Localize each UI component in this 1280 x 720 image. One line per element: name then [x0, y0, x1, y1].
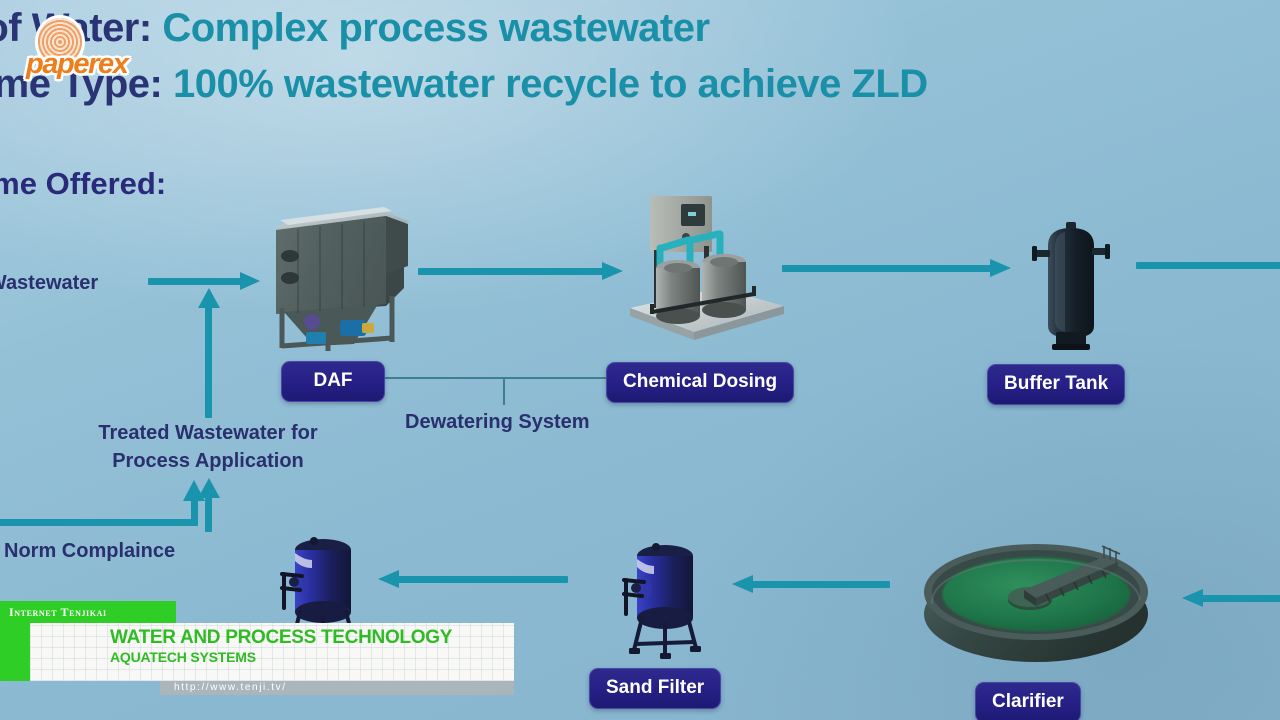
arrow-sand-filter-to-filter: [378, 570, 568, 588]
equipment-label-chemical-dosing[interactable]: Chemical Dosing: [606, 362, 794, 403]
arrow-recycle-upper-riser: [198, 288, 220, 418]
broadcast-banner: Internet Tenjikai WATER AND PROCESS TECH…: [0, 601, 514, 693]
banner-subtitle: AQUATECH SYSTEMS: [110, 649, 256, 665]
banner-green-accent: [0, 623, 30, 681]
arrow-daf-to-chemical-dosing: [418, 262, 624, 280]
dosing-skid-icon: [618, 190, 788, 350]
equipment-label-daf[interactable]: DAF: [281, 361, 385, 402]
arrow-chemical-dosing-to-buffer-tank: [782, 259, 1014, 277]
arrow-right-to-clarifier: [1182, 589, 1280, 607]
label-norm-compliance: B Norm Complaince: [0, 537, 175, 565]
label-treated-wastewater: Treated Wastewater for Process Applicati…: [88, 419, 328, 476]
paperex-logo: paperex: [26, 18, 174, 90]
equipment-label-clarifier[interactable]: Clarifier: [975, 682, 1081, 720]
banner-channel-label: Internet Tenjikai: [0, 601, 176, 623]
arrow-recycle-lower-riser: [198, 480, 220, 532]
circular-clarifier-icon: [920, 528, 1152, 668]
connector-dewatering-branch: [503, 377, 505, 405]
banner-channel-bar: Internet Tenjikai: [0, 601, 176, 623]
equipment-label-sand-filter[interactable]: Sand Filter: [589, 668, 721, 709]
pressure-vessel-icon: [1030, 222, 1112, 352]
paperex-wordmark: paperex: [26, 48, 127, 81]
header-row2-value: 100% wastewater recycle to achieve ZLD: [173, 62, 928, 106]
arrow-norm-compliance-riser: [0, 488, 220, 530]
equipment-label-buffer-tank[interactable]: Buffer Tank: [987, 364, 1125, 405]
vertical-filter-icon: [620, 536, 710, 661]
arrow-clarifier-to-sand-filter: [732, 575, 890, 593]
banner-url-bar: http://www.tenji.tv/: [160, 681, 514, 695]
label-process-wastewater: ss Wastewater: [0, 269, 98, 297]
daf-unit-icon: [266, 196, 416, 351]
connector-daf-chemical: [384, 377, 606, 379]
label-dewatering-system: Dewatering System: [405, 408, 590, 436]
arrow-buffer-tank-to-right: [1136, 262, 1280, 272]
banner-url: http://www.tenji.tv/: [160, 681, 514, 695]
slide-canvas: e of Water: Complex process wastewater h…: [0, 0, 1280, 720]
section-heading-scheme-offered: heme Offered:: [0, 166, 166, 202]
banner-title: WATER AND PROCESS TECHNOLOGY: [110, 627, 452, 649]
header-row1-value: Complex process wastewater: [162, 6, 709, 50]
